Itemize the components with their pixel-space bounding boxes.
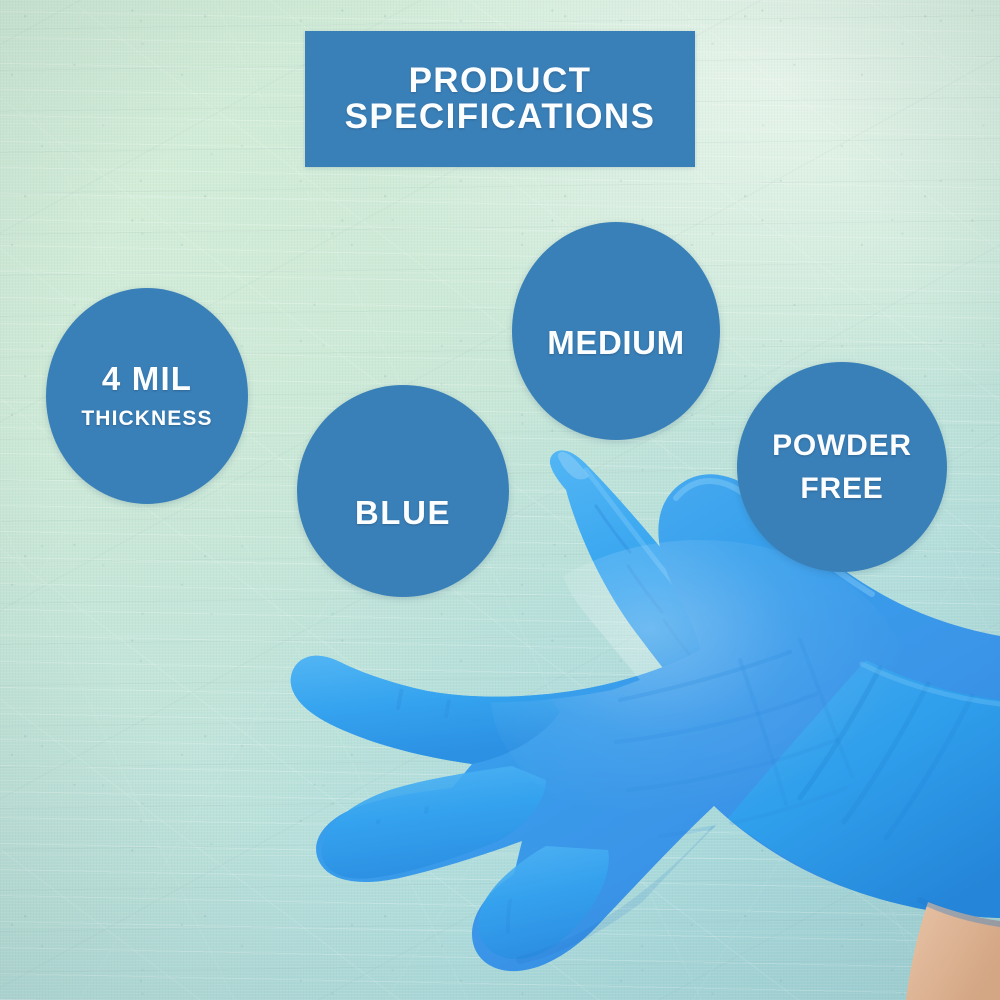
banner-title-line-1: PRODUCT — [409, 63, 592, 99]
spec-powder-line-1: POWDER — [772, 430, 912, 462]
spec-thickness-value: 4 MIL — [102, 362, 192, 397]
spec-size-value: MEDIUM — [547, 326, 684, 361]
banner-title-line-2: SPECIFICATIONS — [345, 99, 656, 135]
product-specifications-banner: PRODUCT SPECIFICATIONS — [305, 31, 695, 167]
spec-color-value: BLUE — [355, 496, 451, 531]
infographic-canvas: PRODUCT SPECIFICATIONS 4 MIL THICKNESS B… — [0, 0, 1000, 1000]
spec-badge-thickness: 4 MIL THICKNESS — [46, 288, 248, 504]
spec-badge-color: BLUE — [297, 385, 509, 597]
spec-thickness-label: THICKNESS — [81, 408, 212, 430]
spec-powder-line-2: FREE — [800, 473, 883, 505]
spec-badge-powder-free: POWDER FREE — [737, 362, 947, 572]
spec-badge-size: MEDIUM — [512, 222, 720, 440]
